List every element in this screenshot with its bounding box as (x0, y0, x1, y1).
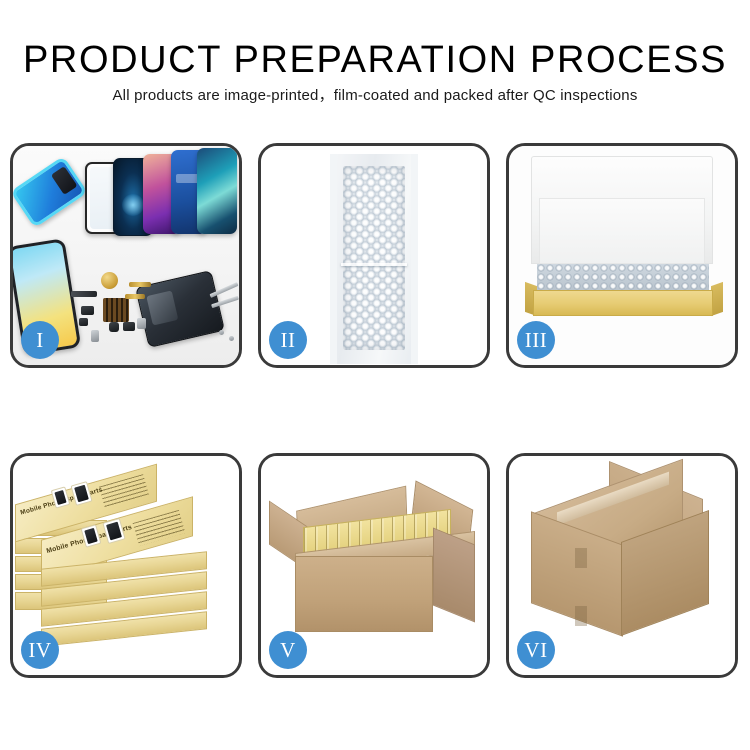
part-flex-cable-a (129, 282, 151, 287)
process-steps-grid: I II III (10, 143, 742, 679)
part-screw-tray (103, 298, 129, 322)
part-gold-coil (101, 272, 118, 289)
carton-side-right (433, 528, 475, 623)
part-chip-a (81, 306, 94, 315)
bubble-wrap-pouch (330, 154, 418, 364)
step-badge-5: V (269, 631, 307, 669)
page-header: PRODUCT PREPARATION PROCESS All products… (0, 0, 750, 130)
phone-teal-swirl (197, 148, 237, 234)
step-panel-5: V (258, 453, 490, 678)
step-badge-2: II (269, 321, 307, 359)
part-flex-cable-b (125, 294, 145, 299)
bubble-wrapped-product (537, 264, 709, 292)
pouch-seam (341, 263, 407, 266)
part-screws-2 (229, 336, 234, 341)
part-metal-bracket (91, 330, 99, 342)
step-badge-1: I (21, 321, 59, 359)
step-panel-1: I (10, 143, 242, 368)
part-sim-tray (137, 318, 146, 329)
carton-front (295, 556, 433, 632)
page-title: PRODUCT PREPARATION PROCESS (0, 38, 750, 82)
carton-seam-top (575, 548, 587, 568)
part-chip-b (79, 318, 88, 326)
page-subtitle: All products are image-printed，film-coat… (0, 86, 750, 106)
step-panel-2: II (258, 143, 490, 368)
step-badge-4: IV (21, 631, 59, 669)
product-preparation-page: PRODUCT PREPARATION PROCESS All products… (0, 0, 750, 750)
part-camera-module (109, 322, 119, 332)
carton-seam-bottom (575, 606, 587, 626)
part-screws (219, 330, 224, 335)
step-badge-3: III (517, 321, 555, 359)
step-panel-3: III (506, 143, 738, 368)
bubble-wrap-texture (343, 166, 405, 350)
step-panel-4: Mobile Phone Spare Parts Mobile Phone Sp… (10, 453, 242, 678)
step-panel-6: VI (506, 453, 738, 678)
part-connector-strip (71, 291, 97, 297)
step-badge-6: VI (517, 631, 555, 669)
foam-insert (539, 198, 705, 264)
part-speaker (123, 322, 135, 331)
box-front-panel (533, 290, 713, 316)
